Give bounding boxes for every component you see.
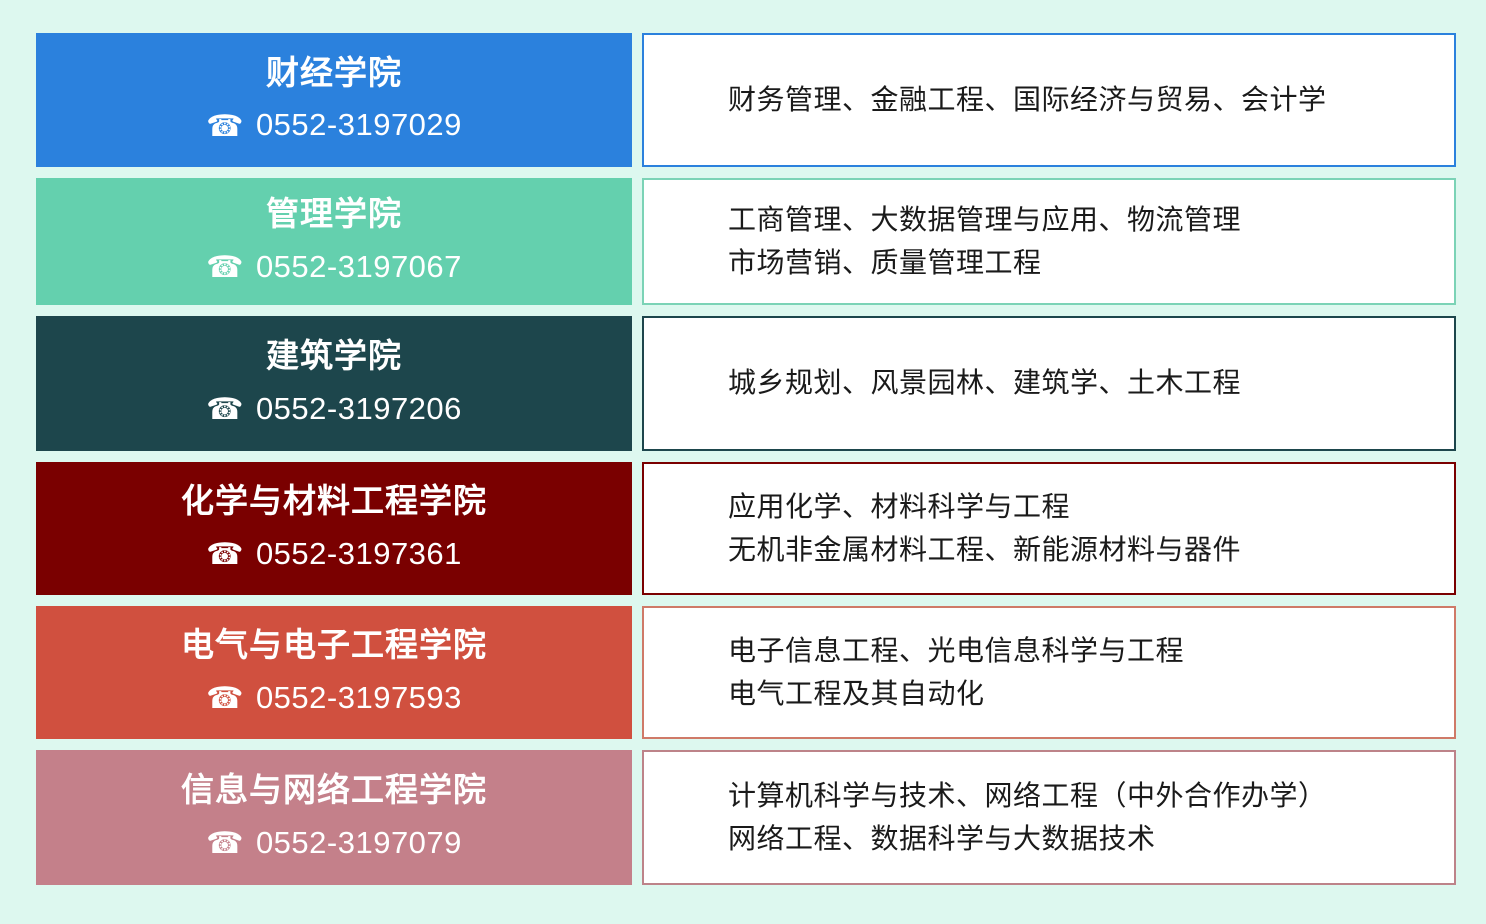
major-line: 工商管理、大数据管理与应用、物流管理 xyxy=(728,199,1454,242)
college-phone[interactable]: ☎0552-3197067 xyxy=(206,248,462,287)
college-phone-number: 0552-3197206 xyxy=(256,390,462,429)
college-majors-cell: 财务管理、金融工程、国际经济与贸易、会计学 xyxy=(642,33,1456,167)
college-header-cell[interactable]: 财经学院☎0552-3197029 xyxy=(36,33,632,167)
major-line: 电气工程及其自动化 xyxy=(728,673,1454,716)
phone-icon: ☎ xyxy=(206,684,244,714)
college-majors-cell: 城乡规划、风景园林、建筑学、土木工程 xyxy=(642,316,1456,451)
college-header-cell[interactable]: 电气与电子工程学院☎0552-3197593 xyxy=(36,606,632,739)
major-line: 市场营销、质量管理工程 xyxy=(728,242,1454,285)
major-line: 应用化学、材料科学与工程 xyxy=(728,486,1454,529)
college-row: 电气与电子工程学院☎0552-3197593电子信息工程、光电信息科学与工程电气… xyxy=(36,606,1456,739)
phone-icon: ☎ xyxy=(206,395,244,425)
college-phone-number: 0552-3197029 xyxy=(256,106,462,145)
phone-icon: ☎ xyxy=(206,253,244,283)
major-line: 财务管理、金融工程、国际经济与贸易、会计学 xyxy=(728,79,1454,122)
college-directory-table: 财经学院☎0552-3197029财务管理、金融工程、国际经济与贸易、会计学管理… xyxy=(0,0,1486,924)
major-line: 网络工程、数据科学与大数据技术 xyxy=(728,818,1454,861)
college-name: 建筑学院 xyxy=(266,336,402,376)
college-name: 财经学院 xyxy=(266,53,402,93)
phone-icon: ☎ xyxy=(206,112,244,142)
college-name: 信息与网络工程学院 xyxy=(181,770,487,810)
college-row: 建筑学院☎0552-3197206城乡规划、风景园林、建筑学、土木工程 xyxy=(36,316,1456,451)
college-phone[interactable]: ☎0552-3197206 xyxy=(206,390,462,429)
college-header-cell[interactable]: 管理学院☎0552-3197067 xyxy=(36,178,632,305)
college-phone-number: 0552-3197079 xyxy=(256,824,462,863)
college-phone[interactable]: ☎0552-3197593 xyxy=(206,679,462,718)
major-line: 计算机科学与技术、网络工程（中外合作办学） xyxy=(728,775,1454,818)
college-header-cell[interactable]: 化学与材料工程学院☎0552-3197361 xyxy=(36,462,632,595)
college-majors-cell: 应用化学、材料科学与工程无机非金属材料工程、新能源材料与器件 xyxy=(642,462,1456,595)
college-phone[interactable]: ☎0552-3197079 xyxy=(206,824,462,863)
major-line: 城乡规划、风景园林、建筑学、土木工程 xyxy=(728,362,1454,405)
college-phone-number: 0552-3197067 xyxy=(256,248,462,287)
college-row: 管理学院☎0552-3197067工商管理、大数据管理与应用、物流管理市场营销、… xyxy=(36,178,1456,305)
college-name: 管理学院 xyxy=(266,194,402,234)
college-majors-cell: 工商管理、大数据管理与应用、物流管理市场营销、质量管理工程 xyxy=(642,178,1456,305)
phone-icon: ☎ xyxy=(206,540,244,570)
college-row: 财经学院☎0552-3197029财务管理、金融工程、国际经济与贸易、会计学 xyxy=(36,33,1456,167)
college-name: 电气与电子工程学院 xyxy=(181,625,487,665)
college-phone[interactable]: ☎0552-3197029 xyxy=(206,106,462,145)
college-row: 化学与材料工程学院☎0552-3197361应用化学、材料科学与工程无机非金属材… xyxy=(36,462,1456,595)
phone-icon: ☎ xyxy=(206,829,244,859)
college-majors-cell: 计算机科学与技术、网络工程（中外合作办学）网络工程、数据科学与大数据技术 xyxy=(642,750,1456,885)
college-phone-number: 0552-3197593 xyxy=(256,679,462,718)
major-line: 电子信息工程、光电信息科学与工程 xyxy=(728,630,1454,673)
college-majors-cell: 电子信息工程、光电信息科学与工程电气工程及其自动化 xyxy=(642,606,1456,739)
college-phone[interactable]: ☎0552-3197361 xyxy=(206,535,462,574)
major-line: 无机非金属材料工程、新能源材料与器件 xyxy=(728,529,1454,572)
college-header-cell[interactable]: 信息与网络工程学院☎0552-3197079 xyxy=(36,750,632,885)
college-header-cell[interactable]: 建筑学院☎0552-3197206 xyxy=(36,316,632,451)
college-row: 信息与网络工程学院☎0552-3197079计算机科学与技术、网络工程（中外合作… xyxy=(36,750,1456,885)
college-name: 化学与材料工程学院 xyxy=(181,481,487,521)
college-phone-number: 0552-3197361 xyxy=(256,535,462,574)
